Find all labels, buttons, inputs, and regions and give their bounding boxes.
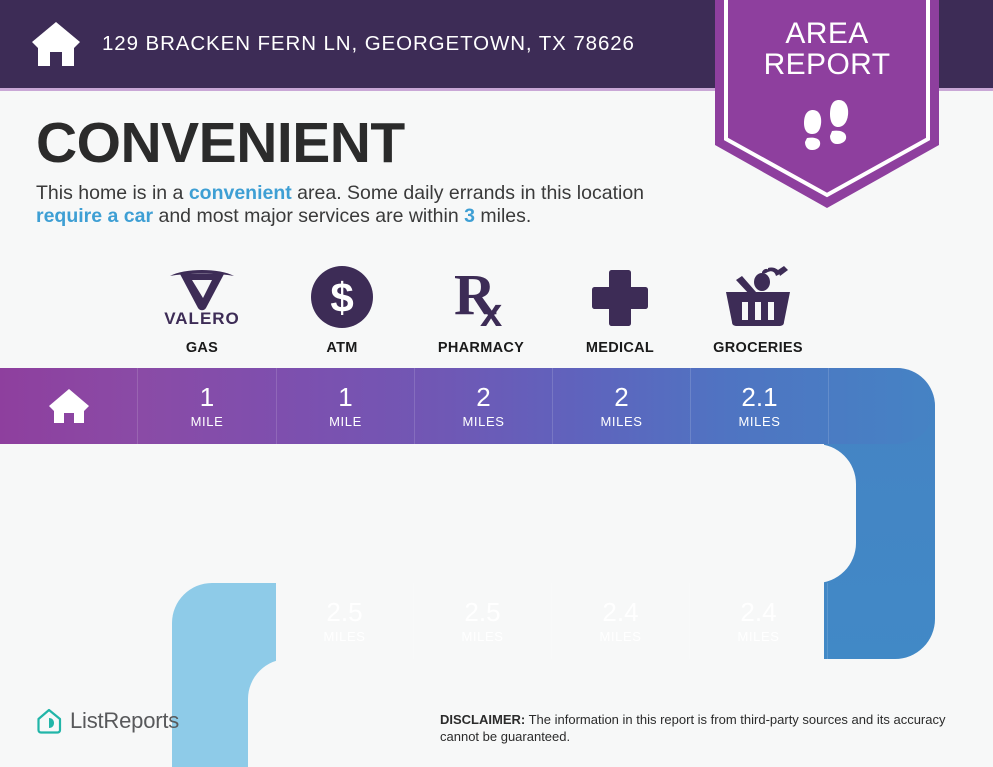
- svg-text:VALERO: VALERO: [164, 309, 240, 328]
- distance-bar-row-1: 1 MILE 1 MILE 2 MILES 2 MILES 2.1 MILES: [0, 368, 935, 444]
- distance-unit: MILE: [329, 414, 362, 429]
- bar-head: [172, 583, 276, 659]
- page-title: CONVENIENT: [36, 110, 405, 176]
- listreports-logo: ListReports: [36, 708, 179, 734]
- svg-text:x: x: [480, 291, 502, 328]
- distance-value: 2.5: [464, 599, 500, 625]
- distance-value: 2.4: [740, 599, 776, 625]
- subtitle-part-2: area. Some daily errands in this locatio…: [292, 182, 644, 204]
- dollar-circle-icon: $: [262, 262, 422, 328]
- distance-unit: MILES: [738, 414, 780, 429]
- home-icon: [47, 386, 91, 426]
- subtitle-part-1: This home is in a: [36, 182, 189, 204]
- rx-icon: R x: [401, 262, 561, 328]
- subtitle-part-4: miles.: [475, 205, 531, 227]
- listreports-house-icon: [36, 708, 62, 734]
- distance-segment-gas: 1 MILE: [138, 368, 277, 444]
- category-gas: VALERO GAS: [122, 262, 282, 356]
- bar-tail: [828, 583, 935, 659]
- category-groceries: GROCERIES: [678, 262, 838, 356]
- disclaimer-label: DISCLAIMER:: [440, 712, 525, 727]
- category-label: GROCERIES: [678, 340, 838, 356]
- home-segment: [0, 368, 138, 444]
- badge-title: AREA REPORT: [707, 18, 947, 80]
- category-label: GAS: [122, 340, 282, 356]
- subtitle-highlight-3: 3: [464, 205, 475, 227]
- badge-line-2: REPORT: [707, 49, 947, 80]
- subtitle-part-3: and most major services are within: [153, 205, 464, 227]
- page-subtitle: This home is in a convenient area. Some …: [36, 182, 706, 228]
- distance-bar-row-2: 2.5 MILES 2.5 MILES 2.4 MILES 2.4 MILES: [172, 583, 935, 659]
- distance-segment-atm: 1 MILE: [277, 368, 415, 444]
- medical-cross-icon: [540, 262, 700, 328]
- bar-tail: [829, 368, 935, 444]
- category-label: MEDICAL: [540, 340, 700, 356]
- disclaimer: DISCLAIMER: The information in this repo…: [440, 712, 980, 746]
- svg-text:$: $: [330, 274, 353, 321]
- distance-segment-cleaners: 2.4 MILES: [552, 583, 690, 659]
- distance-unit: MILES: [599, 629, 641, 644]
- distance-unit: MILES: [323, 629, 365, 644]
- bar-notch-upper: [0, 444, 856, 583]
- footprints-icon: [795, 96, 859, 154]
- distance-unit: MILES: [737, 629, 779, 644]
- distance-unit: MILES: [462, 414, 504, 429]
- subtitle-highlight-2: require a car: [36, 205, 153, 227]
- area-report-badge: AREA REPORT: [707, 0, 947, 212]
- home-icon: [30, 18, 82, 70]
- valero-gas-icon: VALERO: [122, 262, 282, 328]
- distance-value: 2: [614, 384, 628, 410]
- distance-value: 1: [200, 384, 214, 410]
- distance-segment-movie-theater: 2.5 MILES: [276, 583, 414, 659]
- badge-line-1: AREA: [707, 18, 947, 49]
- distance-value: 2: [476, 384, 490, 410]
- distance-unit: MILE: [191, 414, 224, 429]
- category-medical: MEDICAL: [540, 262, 700, 356]
- category-atm: $ ATM: [262, 262, 422, 356]
- grocery-basket-icon: [678, 262, 838, 328]
- subtitle-highlight-1: convenient: [189, 182, 292, 204]
- logo-text: ListReports: [70, 708, 179, 734]
- distance-segment-medical: 2 MILES: [553, 368, 691, 444]
- property-address: 129 BRACKEN FERN LN, GEORGETOWN, TX 7862…: [102, 32, 635, 56]
- distance-value: 2.1: [741, 384, 777, 410]
- category-label: PHARMACY: [401, 340, 561, 356]
- distance-value: 2.5: [326, 599, 362, 625]
- distance-segment-pharmacy: 2 MILES: [415, 368, 553, 444]
- distance-unit: MILES: [461, 629, 503, 644]
- category-label: ATM: [262, 340, 422, 356]
- distance-segment-gym: 2.4 MILES: [690, 583, 828, 659]
- distance-segment-groceries: 2.1 MILES: [691, 368, 829, 444]
- distance-unit: MILES: [600, 414, 642, 429]
- distance-segment-coffee: 2.5 MILES: [414, 583, 552, 659]
- distance-value: 2.4: [602, 599, 638, 625]
- distance-value: 1: [338, 384, 352, 410]
- category-pharmacy: R x PHARMACY: [401, 262, 561, 356]
